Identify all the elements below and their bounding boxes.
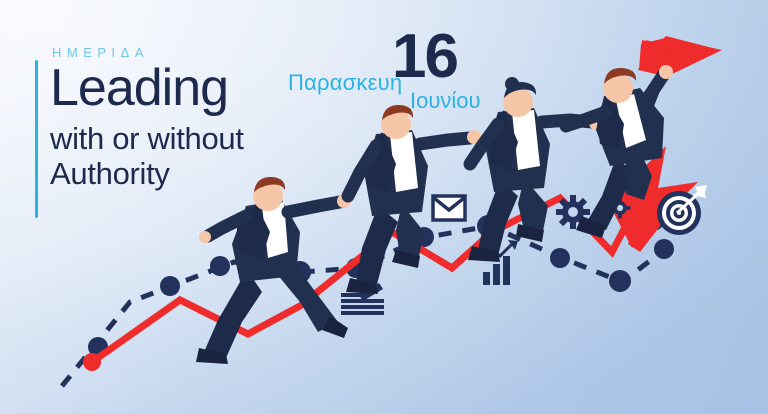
title-accent-bar [35,60,38,218]
title-line-1: Leading [50,62,244,114]
page-title: Leading with or without Authority [50,62,244,189]
date-day-name: Παρασκευή [288,70,402,96]
event-poster: ΗΜΕΡΙΔΑ Leading with or without Authorit… [0,0,768,414]
envelope-icon [433,196,465,220]
date-day-number: 16 [392,26,457,88]
kicker-label: ΗΜΕΡΙΔΑ [52,45,149,60]
flag-icon [638,36,722,77]
footer-info: 09:00 - 17:00 OTE ACADEMY Πέλικα & Σπάρτ… [0,340,768,414]
title-line-2: with or without [50,123,244,154]
date-month: Ιουνίου [410,88,481,114]
event-date: Παρασκευή 16 Ιουνίου [288,30,498,120]
title-line-3: Authority [50,158,244,189]
